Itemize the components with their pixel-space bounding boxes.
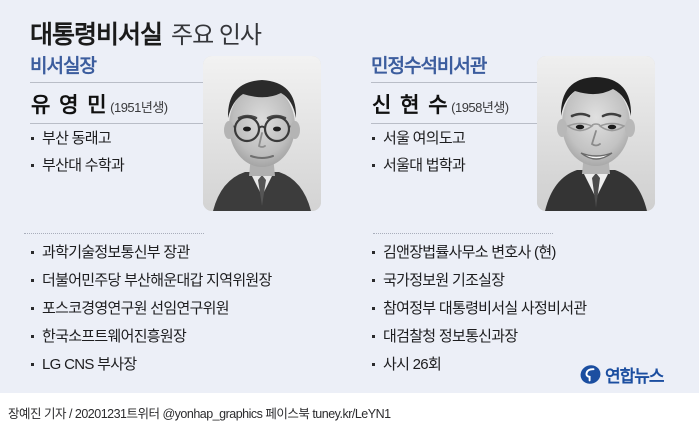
infographic-root: 대통령비서실 주요 인사 비서실장 유 영 민 (1951년생) 부산 동래고 … <box>0 0 699 431</box>
list-item: LG CNS 부사장 <box>30 357 349 385</box>
person-name-1: 신 현 수 <box>372 89 449 119</box>
list-item: 과학기술정보통신부 장관 <box>30 245 349 273</box>
rule-bottom-1 <box>371 123 559 124</box>
list-item: 한국소프트웨어진흥원장 <box>30 329 349 357</box>
section-divider-right <box>373 233 553 234</box>
person-education-list-1: 서울 여의도고 서울대 법학과 <box>371 131 553 185</box>
list-item: 부산 동래고 <box>30 131 212 158</box>
list-item: 대검찰청 정보통신과장 <box>371 329 698 357</box>
list-item: 서울 여의도고 <box>371 131 553 158</box>
footer-credit: 장예진 기자 / 20201231트위터 @yonhap_graphics 페이… <box>0 403 391 422</box>
career-column-0: 과학기술정보통신부 장관 더불어민주당 부산해운대갑 지역위원장 포스코경영연구… <box>0 245 349 385</box>
yonhap-logo-icon <box>580 364 601 385</box>
person-card-1: 민정수석비서관 신 현 수 (1958년생) 서울 여의도고 서울대 법학과 <box>349 56 698 185</box>
yonhap-logo-text: 연합뉴스 <box>605 362 664 387</box>
section-divider-left <box>24 233 204 234</box>
page-title-sub: 주요 인사 <box>171 15 261 50</box>
person-name-row-0: 유 영 민 (1951년생) <box>30 83 212 123</box>
person-birth-0: (1951년생) <box>110 97 168 116</box>
person-name-0: 유 영 민 <box>31 89 108 119</box>
person-name-row-1: 신 현 수 (1958년생) <box>371 83 553 123</box>
list-item: 국가정보원 기조실장 <box>371 273 698 301</box>
person-card-0: 비서실장 유 영 민 (1951년생) 부산 동래고 부산대 수학과 <box>0 56 349 185</box>
page-title-main: 대통령비서실 <box>30 15 162 51</box>
person-photo-1 <box>537 56 655 211</box>
yonhap-logo: 연합뉴스 <box>580 362 664 387</box>
person-photo-0 <box>203 56 321 211</box>
list-item: 서울대 법학과 <box>371 158 553 185</box>
person-columns: 비서실장 유 영 민 (1951년생) 부산 동래고 부산대 수학과 <box>0 56 699 185</box>
list-item: 포스코경영연구원 선임연구위원 <box>30 301 349 329</box>
person-career-list-0: 과학기술정보통신부 장관 더불어민주당 부산해운대갑 지역위원장 포스코경영연구… <box>30 245 349 385</box>
list-item: 부산대 수학과 <box>30 158 212 185</box>
person-education-list-0: 부산 동래고 부산대 수학과 <box>30 131 212 185</box>
list-item: 더불어민주당 부산해운대갑 지역위원장 <box>30 273 349 301</box>
person-info-0: 비서실장 유 영 민 (1951년생) 부산 동래고 부산대 수학과 <box>30 56 212 185</box>
person-birth-1: (1958년생) <box>451 97 509 116</box>
rule-bottom-0 <box>30 123 212 124</box>
page-title: 대통령비서실 주요 인사 <box>30 15 261 51</box>
footer-bar: 장예진 기자 / 20201231트위터 @yonhap_graphics 페이… <box>0 393 699 431</box>
person-info-1: 민정수석비서관 신 현 수 (1958년생) 서울 여의도고 서울대 법학과 <box>371 56 553 185</box>
list-item: 참여정부 대통령비서실 사정비서관 <box>371 301 698 329</box>
person-role-1: 민정수석비서관 <box>371 56 553 82</box>
list-item: 김앤장법률사무소 변호사 (현) <box>371 245 698 273</box>
person-role-0: 비서실장 <box>30 56 212 82</box>
